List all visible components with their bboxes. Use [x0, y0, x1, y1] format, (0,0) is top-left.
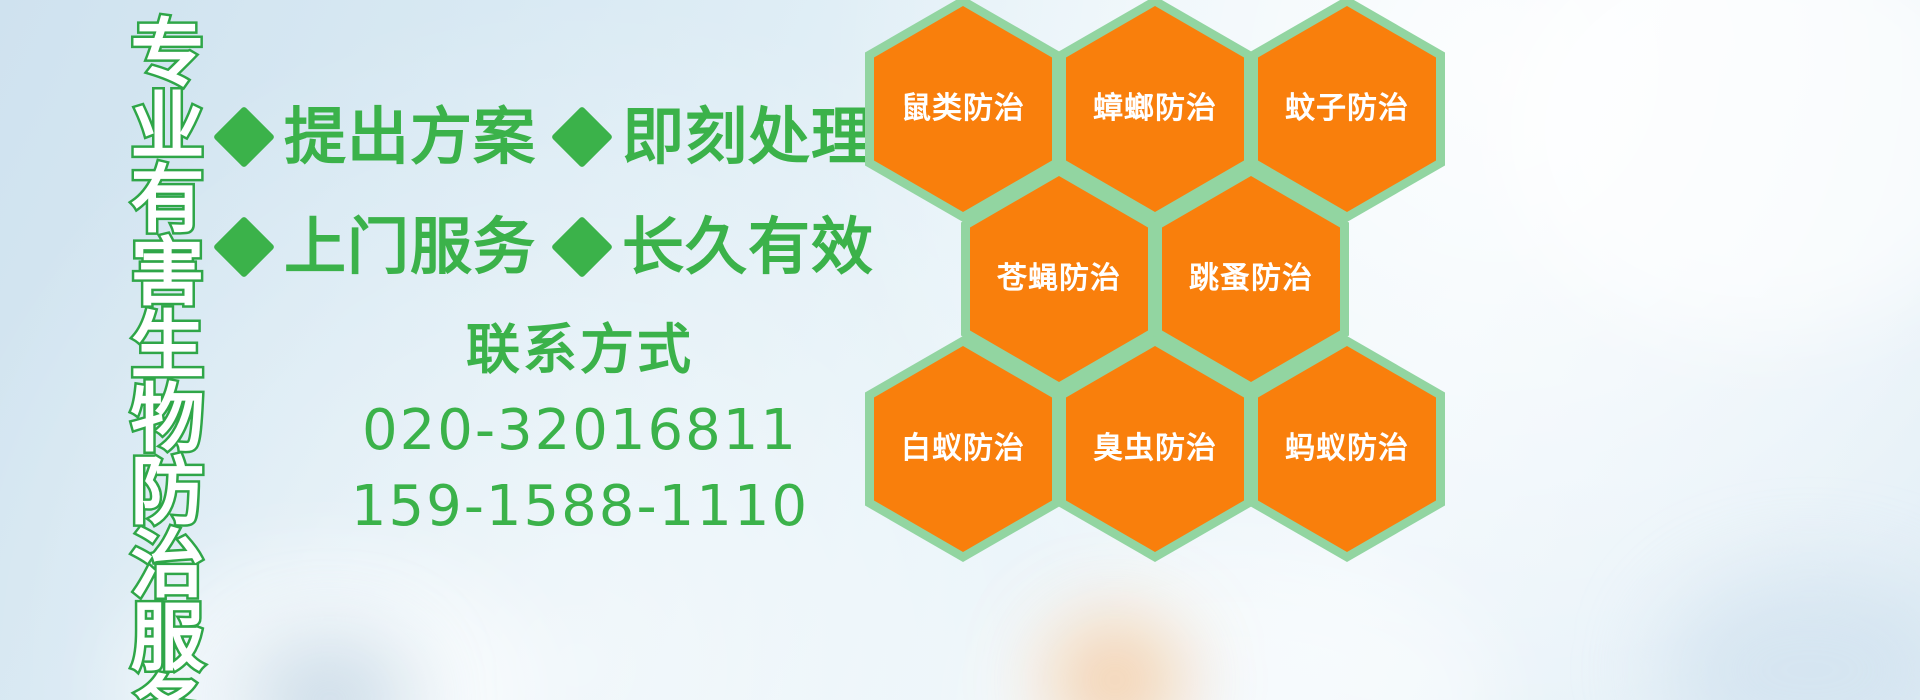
contact-heading: 联系方式: [300, 320, 860, 379]
diamond-bullet-icon: [213, 106, 275, 168]
service-label: 跳蚤防治: [1189, 264, 1313, 294]
feature-row: 提出方案 即刻处理: [222, 82, 862, 192]
service-label: 蟑螂防治: [1093, 94, 1217, 124]
feature-item: 即刻处理: [560, 106, 874, 168]
background-blur-blob: [1500, 0, 1920, 340]
feature-label: 上门服务: [284, 216, 536, 278]
feature-item: 长久有效: [560, 216, 874, 278]
feature-label: 提出方案: [284, 106, 536, 168]
background-blur-blob: [1660, 570, 1920, 700]
service-label: 鼠类防治: [901, 94, 1025, 124]
feature-label: 长久有效: [622, 216, 874, 278]
vertical-title: 专业有害生物防治服务: [103, 14, 195, 554]
service-label: 白蚁防治: [901, 434, 1025, 464]
service-label: 苍蝇防治: [997, 264, 1121, 294]
diamond-bullet-icon: [213, 216, 275, 278]
feature-list: 提出方案 即刻处理 上门服务 长久有效: [222, 82, 862, 302]
feature-item: 上门服务: [222, 216, 536, 278]
hex-inner: 苍蝇防治: [970, 176, 1148, 382]
hex-inner: 蟑螂防治: [1066, 6, 1244, 212]
hex-inner: 臭虫防治: [1066, 346, 1244, 552]
hex-inner: 跳蚤防治: [1162, 176, 1340, 382]
hex-inner: 白蚁防治: [874, 346, 1052, 552]
background-blur-blob: [250, 640, 410, 700]
pest-control-banner: 专业有害生物防治服务 提出方案 即刻处理 上门服务 长久有效: [0, 0, 1920, 700]
service-label: 臭虫防治: [1093, 434, 1217, 464]
hex-inner: 蚂蚁防治: [1258, 346, 1436, 552]
phone-number-mobile[interactable]: 159-1588-1110: [300, 469, 860, 545]
feature-item: 提出方案: [222, 106, 536, 168]
hex-inner: 鼠类防治: [874, 6, 1052, 212]
service-honeycomb: 鼠类防治 蟑螂防治 蚊子防治 苍蝇防治 跳蚤防治 白蚁防: [855, 0, 1455, 700]
hex-inner: 蚊子防治: [1258, 6, 1436, 212]
phone-number-landline[interactable]: 020-32016811: [300, 393, 860, 469]
diamond-bullet-icon: [551, 216, 613, 278]
diamond-bullet-icon: [551, 106, 613, 168]
service-label: 蚂蚁防治: [1285, 434, 1409, 464]
service-label: 蚊子防治: [1285, 94, 1409, 124]
feature-row: 上门服务 长久有效: [222, 192, 862, 302]
feature-label: 即刻处理: [622, 106, 874, 168]
contact-block: 联系方式 020-32016811 159-1588-1110: [300, 320, 860, 545]
